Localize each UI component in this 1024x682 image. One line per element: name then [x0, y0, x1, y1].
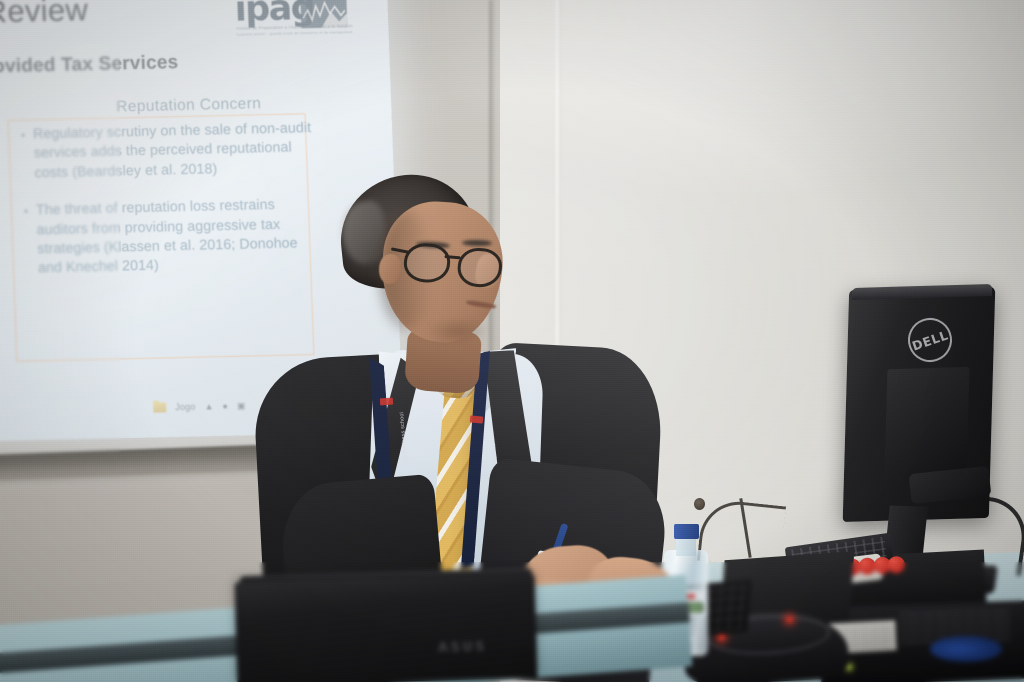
eyeglasses: [403, 242, 510, 287]
monitor-vesa-recess: [884, 367, 969, 475]
ipag-tagline-2: business school – grande ecole de commer…: [237, 30, 353, 37]
glasses-lens-left: [402, 242, 451, 285]
slide-subtitle: r-Provided Tax Services: [0, 52, 179, 79]
glasses-lens-right: [456, 246, 503, 289]
bullet-marker-icon: •: [13, 125, 35, 184]
bullet-marker-icon: •: [16, 202, 39, 280]
asus-laptop-lid: [235, 574, 538, 682]
microphone-icon: ●: [222, 401, 228, 411]
taskbar-folder-label: Jogo: [175, 402, 196, 412]
folder-icon: [153, 402, 166, 412]
bottle-neck: [676, 536, 696, 556]
slide-title: Review: [0, 0, 89, 30]
blue-cable: [930, 636, 1002, 662]
chin-shadow: [426, 318, 488, 344]
microphone-capsule: [694, 498, 705, 510]
lanyard-accent: [470, 415, 484, 423]
ipag-logo: ipag Institut de Preparation a l'Adminis…: [234, 0, 348, 41]
conference-room-photo: Review r-Provided Tax Services ipag Inst…: [0, 0, 1024, 682]
ear: [379, 254, 401, 284]
dell-logo-text: DELL: [910, 327, 950, 353]
chevron-up-icon: ▲: [204, 401, 213, 411]
bottle-cap: [674, 524, 699, 539]
asus-logo-text: ASUS: [438, 639, 487, 655]
red-button[interactable]: [887, 555, 906, 574]
slide-content-heading: Reputation Concern: [116, 95, 262, 116]
lanyard-accent: [380, 398, 393, 406]
speakerphone-led: [786, 616, 793, 623]
speakerphone-led: [718, 634, 725, 641]
